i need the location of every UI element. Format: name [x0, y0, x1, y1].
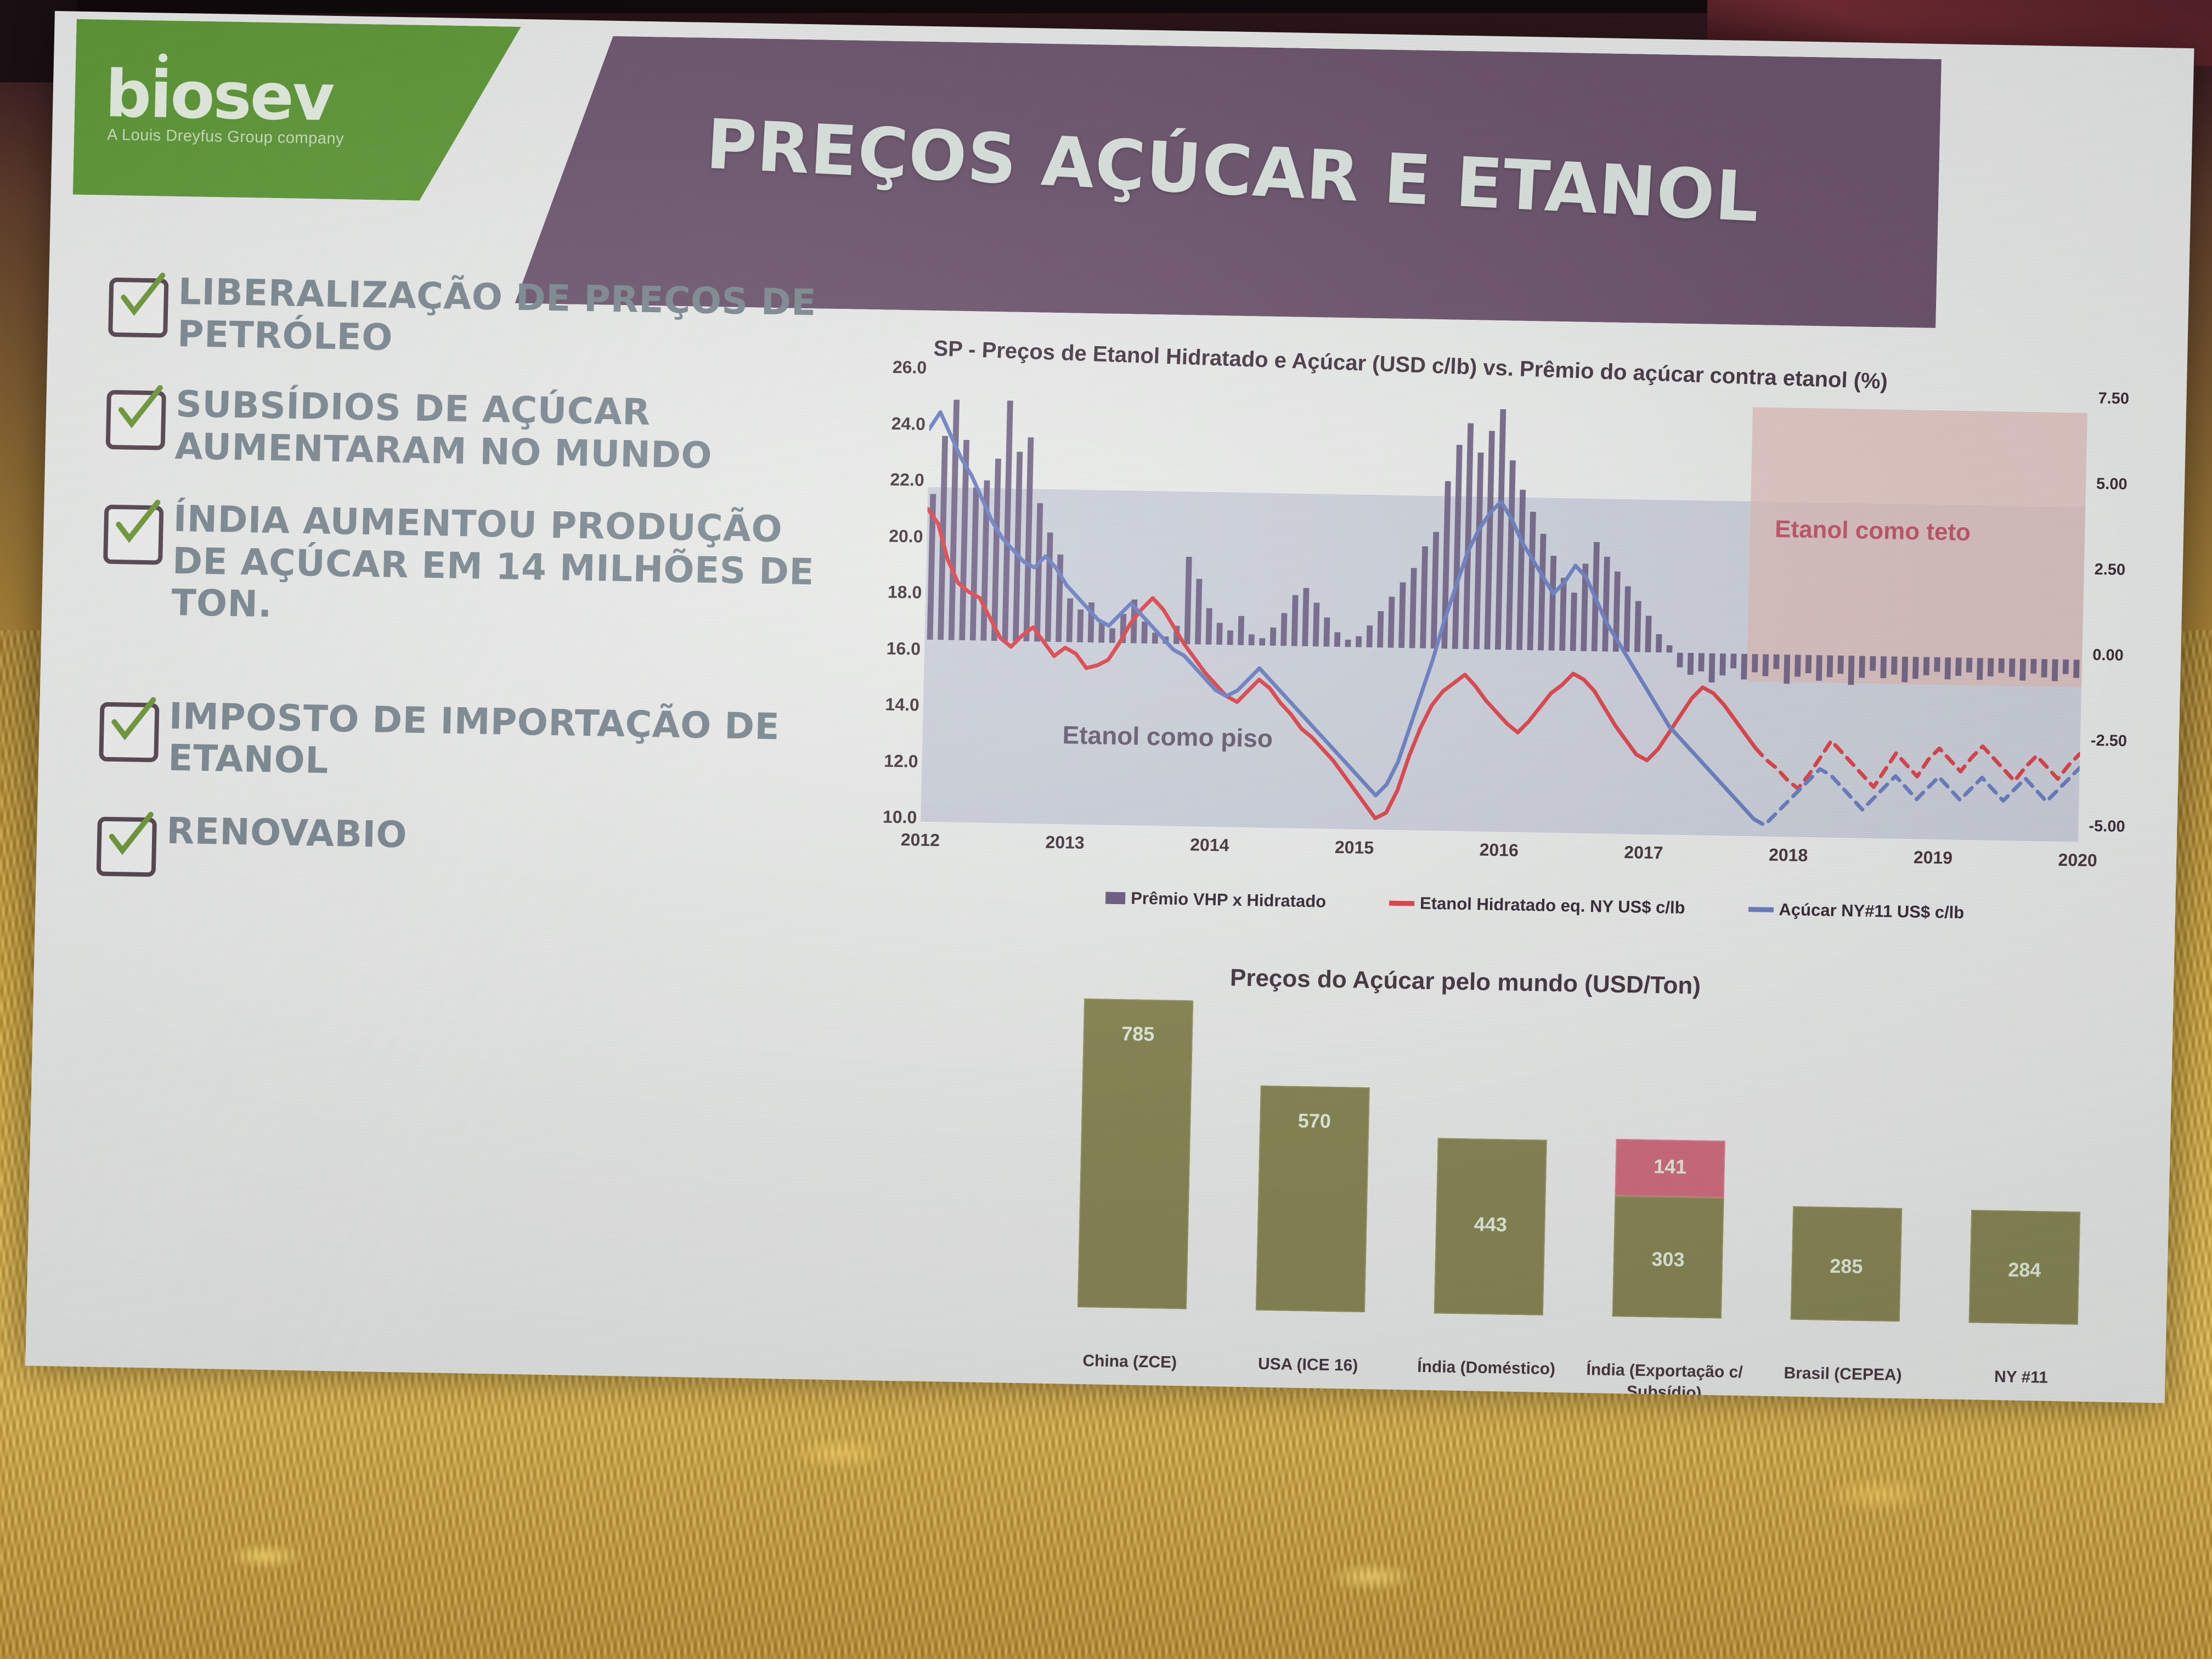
check-mark-icon: [114, 382, 164, 436]
bar-premio: [1827, 656, 1833, 678]
list-item[interactable]: SUBSÍDIOS DE AÇÚCAR AUMENTARAM NO MUNDO: [105, 382, 837, 479]
bar-column[interactable]: 443: [1434, 1138, 1545, 1316]
legend-swatch-line-blue-icon: [1748, 907, 1773, 912]
bar-premio: [2009, 658, 2015, 676]
bar-value-label: 785: [1084, 1022, 1192, 1046]
bar-premio: [2030, 659, 2036, 674]
checkbox-checked-icon[interactable]: [106, 390, 166, 450]
bar-premio: [1045, 533, 1053, 642]
bar-premio: [1463, 423, 1474, 649]
world-sugar-price-bar-chart: Preços do Açúcar pelo mundo (USD/Ton) 78…: [1041, 961, 2119, 1386]
bar-premio: [1313, 603, 1319, 647]
bar-premio: [1741, 654, 1747, 680]
y2-axis-tick: 5.00: [2096, 475, 2128, 494]
x-axis-tick: 2018: [1769, 845, 1808, 866]
bar-premio: [2019, 659, 2026, 681]
bar-premio: [1999, 658, 2005, 673]
check-mark-icon: [104, 809, 155, 863]
bar-premio: [1945, 657, 1951, 679]
bar-premio: [1773, 654, 1779, 669]
bar-value-label: 285: [1792, 1254, 1900, 1279]
bar-premio: [1634, 601, 1641, 652]
bar-premio: [1538, 534, 1546, 651]
bar-premio: [1323, 617, 1330, 646]
bar-premio: [1570, 592, 1577, 651]
bar-premio: [1420, 546, 1428, 648]
bar-category-label: Brasil (CEPEA): [1753, 1362, 1932, 1386]
chart-legend: Prêmio VHP x Hidratado Etanol Hidratado …: [1105, 888, 1965, 923]
bar-segment-base[interactable]: 443: [1434, 1138, 1547, 1316]
bar-premio: [1034, 503, 1043, 641]
bar-premio: [1291, 595, 1299, 646]
bar-category-label: USA (ICE 16): [1218, 1352, 1397, 1377]
bar-premio: [1602, 557, 1610, 652]
bar-premio: [1238, 616, 1244, 645]
x-axis-tick: 2017: [1624, 842, 1663, 863]
bar-premio: [1988, 658, 1994, 676]
y-axis-tick: 26.0: [893, 357, 927, 378]
bar-premio: [1977, 658, 1983, 680]
legend-item-etanol[interactable]: Etanol Hidratado eq. NY US$ c/lb: [1389, 893, 1685, 918]
bar-segment-base[interactable]: 285: [1791, 1206, 1902, 1322]
bar-premio: [1901, 657, 1908, 682]
line-chart-canvas: [921, 366, 2088, 842]
bar-premio: [1216, 623, 1223, 645]
bar-premio: [1249, 634, 1255, 645]
bar-premio: [1848, 656, 1854, 685]
list-item[interactable]: LIBERALIZAÇÃO DE PREÇOS DE PETRÓLEO: [108, 270, 839, 366]
bar-premio: [1955, 658, 1961, 676]
y-axis-tick: 20.0: [889, 526, 923, 546]
bar-premio: [1912, 657, 1919, 679]
bar-premio: [1141, 622, 1148, 644]
y-axis-tick: 24.0: [891, 413, 926, 434]
bar-premio: [1409, 568, 1417, 648]
y-axis-right: 7.505.002.500.00-2.50-5.00: [2086, 398, 2192, 833]
legend-swatch-line-red-icon: [1389, 900, 1414, 906]
bar-premio: [2052, 659, 2058, 681]
y-axis-tick: 16.0: [886, 638, 921, 659]
checkbox-checked-icon[interactable]: [99, 702, 159, 762]
bar-premio: [1206, 608, 1212, 645]
check-mark-icon: [107, 695, 157, 748]
bar-premio: [1280, 613, 1287, 646]
annotation-ceiling: Etanol como teto: [1775, 516, 1971, 546]
bar-premio: [1367, 625, 1373, 647]
bar-category-label: NY #11: [1932, 1365, 2111, 1390]
projector-room-photo: biosev A Louis Dreyfus Group company PRE…: [0, 0, 2212, 1659]
presentation-slide: biosev A Louis Dreyfus Group company PRE…: [25, 11, 2194, 1403]
y-axis-tick: 22.0: [890, 470, 924, 490]
bar-value-label: 141: [1616, 1154, 1724, 1179]
y2-axis-tick: -2.50: [2090, 732, 2127, 751]
legend-item-premio[interactable]: Prêmio VHP x Hidratado: [1105, 888, 1327, 912]
list-item[interactable]: IMPOSTO DE IMPORTAÇÃO DE ETANOL: [99, 694, 830, 791]
bar-column[interactable]: 570: [1256, 1086, 1368, 1312]
brand-logo: biosev: [104, 56, 334, 136]
bar-premio: [1002, 400, 1013, 641]
bar-premio: [1784, 654, 1790, 684]
y-axis-tick: 10.0: [883, 807, 917, 828]
legend-item-acucar[interactable]: Açúcar NY#11 US$ c/lb: [1748, 899, 1964, 923]
bar-premio: [1805, 655, 1812, 673]
bar-premio: [1709, 653, 1716, 682]
bar-premio: [1195, 579, 1202, 645]
bar-premio: [1377, 611, 1384, 648]
y-axis-tick: 18.0: [888, 582, 922, 603]
bar-premio: [1837, 656, 1843, 674]
list-item-label: IMPOSTO DE IMPORTAÇÃO DE ETANOL: [167, 696, 830, 791]
legend-label: Açúcar NY#11 US$ c/lb: [1779, 900, 1964, 923]
bar-premio: [1474, 453, 1484, 650]
checkbox-checked-icon[interactable]: [97, 816, 157, 877]
bar-premio: [1816, 655, 1822, 681]
bar-premio: [970, 487, 979, 640]
y2-axis-tick: -5.00: [2089, 817, 2125, 836]
y2-axis-tick: 7.50: [2098, 390, 2129, 408]
check-mark-icon: [116, 270, 167, 324]
bar-premio: [1431, 532, 1439, 649]
bar-premio: [1880, 656, 1887, 678]
bullet-list: LIBERALIZAÇÃO DE PREÇOS DE PETRÓLEO SUBS…: [95, 270, 839, 919]
bar-premio: [1398, 582, 1406, 648]
bar-premio: [1013, 452, 1023, 641]
bar-premio: [1334, 632, 1340, 647]
bar-premio: [1688, 653, 1694, 675]
checkbox-checked-icon[interactable]: [108, 278, 168, 338]
plot-area: Etanol como piso Etanol como teto 201220…: [921, 366, 2088, 842]
bar-premio: [1719, 653, 1726, 675]
bar-value-label: 303: [1615, 1247, 1722, 1272]
bar-column[interactable]: 285: [1791, 1206, 1900, 1322]
x-axis-tick: 2020: [2058, 850, 2097, 871]
bar-premio: [2063, 659, 2069, 674]
y2-axis-tick: 2.50: [2094, 561, 2125, 579]
line-acucar: [1754, 762, 2080, 830]
legend-swatch-bar-icon: [1105, 892, 1125, 905]
bar-premio: [2073, 659, 2079, 678]
bar-premio: [1934, 657, 1940, 672]
list-item-label: ÍNDIA AUMENTOU PRODUÇÃO DE AÇÚCAR EM 14 …: [171, 498, 834, 636]
legend-label: Prêmio VHP x Hidratado: [1131, 888, 1327, 911]
bar-premio: [1109, 628, 1115, 643]
bar-premio: [1495, 409, 1506, 650]
bar-premio: [1484, 431, 1494, 649]
bar-premio: [1623, 586, 1630, 652]
bar-premio: [1270, 628, 1276, 646]
bar-premio: [1645, 616, 1651, 652]
bar-premio: [1870, 656, 1876, 671]
bar-column[interactable]: 785: [1077, 998, 1191, 1310]
bar-premio: [1656, 634, 1662, 652]
logo-wordmark: biosev: [104, 56, 334, 136]
bar-premio: [1795, 655, 1801, 677]
bar-premio: [991, 459, 1001, 641]
bar-segment-base[interactable]: 570: [1256, 1086, 1370, 1313]
bar-premio: [1184, 557, 1192, 645]
chart-title: Preços do Açúcar pelo mundo (USD/Ton): [1230, 964, 1701, 1000]
x-axis-tick: 2012: [900, 830, 940, 850]
list-item[interactable]: RENOVABIO: [97, 809, 827, 888]
check-mark-icon: [111, 497, 162, 551]
bar-premio: [1388, 597, 1395, 648]
bar-premio: [1516, 490, 1526, 650]
bar-premio: [1891, 657, 1897, 675]
bar-value-label: 284: [1971, 1257, 2078, 1282]
x-axis-tick: 2016: [1479, 840, 1519, 861]
bar-value-label: 570: [1261, 1109, 1368, 1133]
bar-premio: [1527, 512, 1536, 650]
bar-premio: [1227, 630, 1233, 645]
checkbox-checked-icon[interactable]: [103, 505, 163, 565]
bar-premio: [1730, 653, 1736, 668]
y-axis-tick: 14.0: [885, 695, 919, 715]
legend-label: Etanol Hidratado eq. NY US$ c/lb: [1420, 894, 1685, 918]
bar-premio: [1066, 599, 1073, 642]
x-axis-tick: 2014: [1190, 834, 1229, 855]
bar-premio: [1752, 654, 1758, 672]
bar-segment-base[interactable]: 785: [1077, 998, 1193, 1310]
bar-premio: [1506, 460, 1516, 650]
bar-column[interactable]: 284: [1969, 1210, 2078, 1325]
price-line-chart: SP - Preços de Etanol Hidratado e Açúcar…: [797, 334, 2193, 978]
bar-premio: [1859, 656, 1865, 678]
list-item[interactable]: ÍNDIA AUMENTOU PRODUÇÃO DE AÇÚCAR EM 14 …: [102, 497, 834, 636]
x-axis-tick: 2015: [1335, 837, 1374, 858]
list-item-label: LIBERALIZAÇÃO DE PREÇOS DE PETRÓLEO: [177, 271, 839, 366]
bar-premio: [1667, 645, 1673, 652]
bar-segment-subsidy[interactable]: 141: [1615, 1139, 1725, 1198]
bar-value-label: 443: [1437, 1212, 1544, 1237]
bar-premio: [1452, 445, 1463, 649]
bar-premio: [1677, 653, 1683, 668]
annotation-floor: Etanol como piso: [1062, 720, 1273, 753]
bar-premio: [1302, 588, 1309, 646]
bar-segment-base[interactable]: 284: [1969, 1210, 2080, 1325]
bar-premio: [1923, 657, 1929, 675]
y-axis-tick: 12.0: [884, 751, 918, 771]
x-axis-tick: 2019: [1913, 847, 1953, 868]
bar-column[interactable]: 141303: [1612, 1139, 1723, 1319]
list-item-label: SUBSÍDIOS DE AÇÚCAR AUMENTARAM NO MUNDO: [174, 383, 837, 479]
x-axis-tick: 2013: [1045, 832, 1085, 853]
y2-axis-tick: 0.00: [2092, 646, 2124, 665]
bar-premio: [1259, 638, 1265, 645]
bar-premio: [1077, 610, 1084, 642]
list-item-label: RENOVABIO: [166, 810, 408, 856]
bar-premio: [1023, 437, 1034, 641]
bar-premio: [1345, 640, 1351, 647]
bar-plot-area: 785China (ZCE)570USA (ICE 16)443Índia (D…: [1042, 994, 2118, 1325]
bar-segment-base[interactable]: 303: [1612, 1196, 1724, 1318]
y-axis-left: 26.024.022.020.018.016.014.012.010.0: [800, 364, 928, 822]
bar-premio: [1966, 658, 1972, 673]
bar-premio: [1356, 636, 1362, 647]
bar-premio: [1698, 653, 1704, 671]
bar-category-label: China (ZCE): [1040, 1350, 1219, 1374]
bar-premio: [2041, 659, 2047, 677]
bar-category-label: Índia (Doméstico): [1397, 1356, 1576, 1380]
bar-premio: [1549, 556, 1557, 651]
bar-premio: [1762, 654, 1769, 676]
